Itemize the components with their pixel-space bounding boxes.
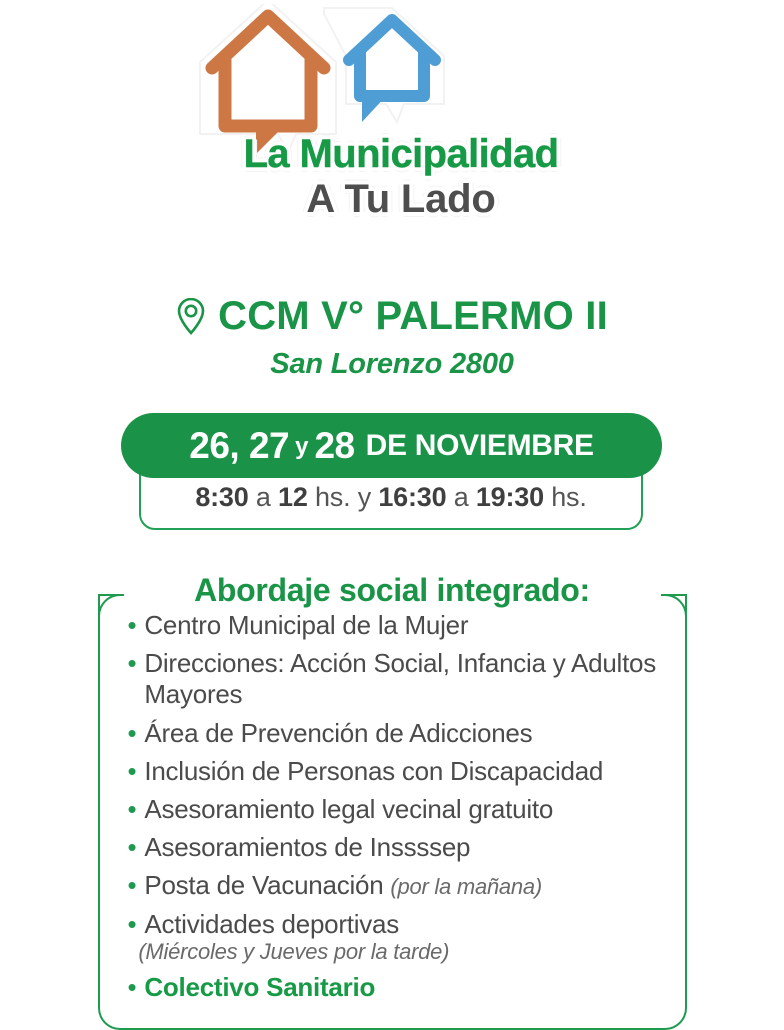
bullet-dot-icon: • xyxy=(128,610,137,641)
list-item-label: Posta de Vacunación xyxy=(144,870,383,900)
bullet-dot-icon: • xyxy=(128,756,137,787)
services-title-text: Abordaje social integrado: xyxy=(180,572,604,608)
blue-speech-tail-icon xyxy=(362,92,386,122)
date-month: DE NOVIEMBRE xyxy=(366,429,594,463)
venue-block: CCM V° PALERMO II San Lorenzo 2800 xyxy=(0,296,784,381)
list-item: • Direcciones: Acción Social, Infancia y… xyxy=(128,648,675,710)
date-conjunction: y xyxy=(295,433,308,461)
hours-sep-1: a xyxy=(256,482,271,512)
logo-block: La Municipalidad A Tu Lado xyxy=(0,0,784,252)
venue-address: San Lorenzo 2800 xyxy=(0,348,784,381)
bullet-dot-icon: • xyxy=(128,832,137,863)
list-item-text: Colectivo Sanitario xyxy=(144,972,674,1003)
bullet-dot-icon: • xyxy=(128,718,137,749)
bullet-dot-icon: • xyxy=(128,909,137,940)
hours-start-2: 16:30 xyxy=(378,482,446,512)
logo-line-a-tu-lado: A Tu Lado xyxy=(196,177,606,221)
services-panel: Abordaje social integrado: • Centro Muni… xyxy=(98,596,687,1030)
list-item: • Posta de Vacunación (por la mañana) xyxy=(128,870,675,901)
list-item-highlighted: • Colectivo Sanitario xyxy=(128,972,675,1003)
date-pill: 26, 27 y 28 DE NOVIEMBRE xyxy=(121,413,662,478)
list-item-text: Posta de Vacunación (por la mañana) xyxy=(144,870,674,901)
list-item-text: Centro Municipal de la Mujer xyxy=(144,610,674,641)
hours-end-2: 19:30 xyxy=(476,482,544,512)
list-item-text: Direcciones: Acción Social, Infancia y A… xyxy=(144,648,674,710)
list-item: • Centro Municipal de la Mujer xyxy=(128,610,675,641)
hours-unit-2: hs. xyxy=(551,482,586,512)
hours-unit-1: hs. xyxy=(315,482,350,512)
venue-name: CCM V° PALERMO II xyxy=(218,296,608,336)
list-item-text: Inclusión de Personas con Discapacidad xyxy=(144,756,674,787)
services-corner-left xyxy=(98,594,120,616)
date-days: 26, 27 xyxy=(189,425,289,467)
list-item-label: Actividades deportivas xyxy=(144,909,399,939)
list-item-subnote: (Miércoles y Jueves por la tarde) xyxy=(138,939,674,965)
services-topline-right xyxy=(661,594,687,596)
list-item-text: Actividades deportivas(Miércoles y Jueve… xyxy=(144,909,674,966)
venue-title-row: CCM V° PALERMO II xyxy=(0,296,784,336)
list-item: • Actividades deportivas(Miércoles y Jue… xyxy=(128,909,675,966)
bullet-dot-icon: • xyxy=(128,648,137,679)
list-item: • Asesoramiento legal vecinal gratuito xyxy=(128,794,675,825)
services-title: Abordaje social integrado: xyxy=(100,572,685,609)
list-item: • Área de Prevención de Adicciones xyxy=(128,718,675,749)
list-item-text: Área de Prevención de Adicciones xyxy=(144,718,674,749)
services-corner-right xyxy=(665,594,687,616)
schedule-block: 8:30 a 12 hs. y 16:30 a 19:30 hs. 26, 27… xyxy=(0,413,784,548)
services-topline-left xyxy=(98,594,124,596)
list-item-text: Asesoramiento legal vecinal gratuito xyxy=(144,794,674,825)
list-item: • Inclusión de Personas con Discapacidad xyxy=(128,756,675,787)
hours-start-1: 8:30 xyxy=(195,482,248,512)
logo-inner: La Municipalidad A Tu Lado xyxy=(196,4,606,248)
services-list: • Centro Municipal de la Mujer • Direcci… xyxy=(100,610,685,1003)
bullet-dot-icon: • xyxy=(128,870,137,901)
list-item-text: Asesoramientos de Inssssep xyxy=(144,832,674,863)
hours-sep-2: a xyxy=(454,482,469,512)
list-item-note: (por la mañana) xyxy=(390,874,542,899)
logo-line-municipalidad: La Municipalidad xyxy=(196,134,606,175)
hours-end-1: 12 xyxy=(278,482,308,512)
logo-wordmark: La Municipalidad A Tu Lado xyxy=(196,134,606,221)
date-day-last: 28 xyxy=(314,425,354,467)
location-pin-icon xyxy=(176,296,206,336)
hours-conjunction: y xyxy=(358,482,371,512)
list-item: • Asesoramientos de Inssssep xyxy=(128,832,675,863)
bullet-dot-icon: • xyxy=(128,972,137,1003)
bullet-dot-icon: • xyxy=(128,794,137,825)
